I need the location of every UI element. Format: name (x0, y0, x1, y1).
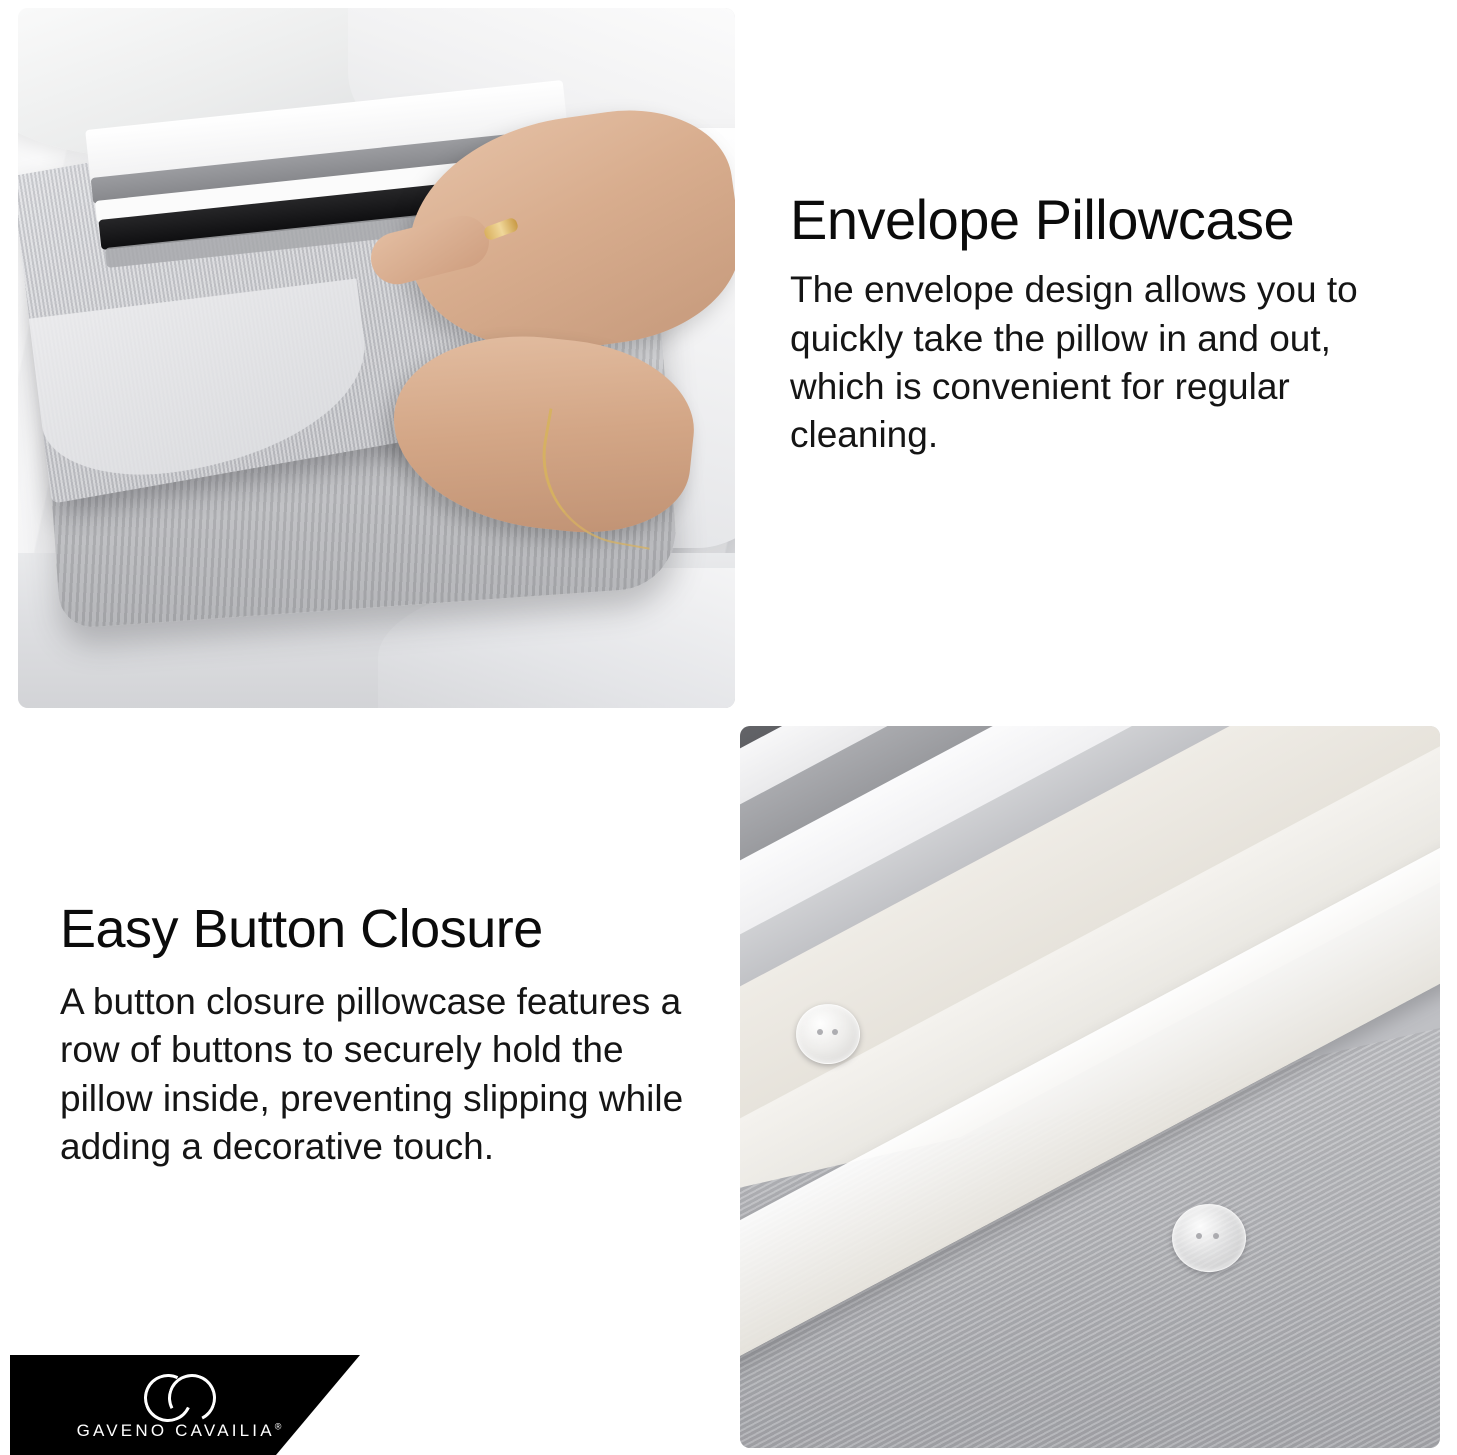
clear-button-lower (1172, 1204, 1246, 1272)
registered-mark: ® (275, 1421, 282, 1431)
brand-logo-badge: GAVENO CAVAILIA® (10, 1355, 360, 1455)
gc-monogram-icon (136, 1372, 222, 1418)
button-closure-text-block: Easy Button Closure A button closure pil… (60, 900, 700, 1171)
brand-logo-wrap: GAVENO CAVAILIA® (44, 1363, 314, 1449)
infographic-page: Envelope Pillowcase The envelope design … (0, 0, 1457, 1455)
clear-button-upper (796, 1004, 860, 1064)
envelope-text-block: Envelope Pillowcase The envelope design … (790, 190, 1420, 459)
brand-name: GAVENO CAVAILIA® (77, 1421, 282, 1441)
button-closure-heading: Easy Button Closure (60, 900, 700, 958)
envelope-body-text: The envelope design allows you to quickl… (790, 266, 1420, 458)
envelope-pillowcase-photo (18, 8, 735, 708)
button-closure-body-text: A button closure pillowcase features a r… (60, 978, 700, 1170)
envelope-heading: Envelope Pillowcase (790, 190, 1420, 250)
brand-name-text: GAVENO CAVAILIA (77, 1421, 275, 1440)
button-closure-photo (740, 726, 1440, 1448)
